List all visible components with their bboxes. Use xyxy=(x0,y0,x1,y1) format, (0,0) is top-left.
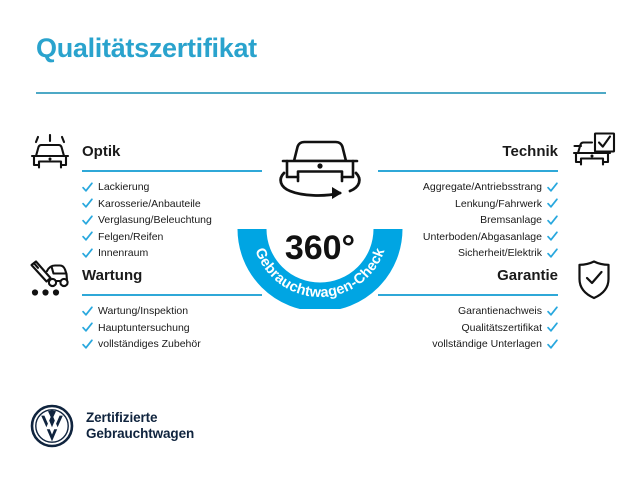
car-front-rotate-icon xyxy=(281,142,360,199)
list-item: vollständige Unterlagen xyxy=(378,336,558,353)
page-title: Qualitätszertifikat xyxy=(36,34,604,64)
list-item-label: Lackierung xyxy=(98,179,149,196)
check-icon xyxy=(547,322,558,333)
list-item-label: Innenraum xyxy=(98,245,148,262)
list-item-label: Garantienachweis xyxy=(458,303,542,320)
footer-logo-block: Zertifizierte Gebrauchtwagen xyxy=(30,404,194,448)
list-item-label: Lenkung/Fahrwerk xyxy=(455,196,542,213)
check-icon xyxy=(547,231,558,242)
check-icon xyxy=(82,248,93,259)
check-icon xyxy=(547,306,558,317)
list-item: Hauptuntersuchung xyxy=(82,320,262,337)
list-item-label: Hauptuntersuchung xyxy=(98,320,190,337)
check-icon xyxy=(547,215,558,226)
list-item-label: vollständige Unterlagen xyxy=(432,336,542,353)
list-item-label: Unterboden/Abgasanlage xyxy=(423,229,542,246)
car-checkbox-icon xyxy=(568,132,614,172)
check-icon xyxy=(82,306,93,317)
section-garantie-list: Garantienachweis Qualitätszertifikat vol… xyxy=(378,303,558,353)
badge-360-gebrauchtwagen-check: 360° Gebrauchtwagen-Check xyxy=(228,113,412,309)
list-item-label: Karosserie/Anbauteile xyxy=(98,196,201,213)
car-shine-icon xyxy=(27,134,73,174)
list-item-label: Felgen/Reifen xyxy=(98,229,163,246)
check-icon xyxy=(82,198,93,209)
section-wartung-list: Wartung/Inspektion Hauptuntersuchung vol… xyxy=(82,303,262,353)
check-icon xyxy=(82,322,93,333)
list-item: Qualitätszertifikat xyxy=(378,320,558,337)
list-item-label: Aggregate/Antriebsstrang xyxy=(423,179,542,196)
check-icon xyxy=(82,215,93,226)
list-item-label: Verglasung/Beleuchtung xyxy=(98,212,212,229)
check-icon xyxy=(82,182,93,193)
list-item-label: Bremsanlage xyxy=(480,212,542,229)
list-item-label: vollständiges Zubehör xyxy=(98,336,201,353)
check-icon xyxy=(547,339,558,350)
check-icon xyxy=(547,182,558,193)
footer-line-2: Gebrauchtwagen xyxy=(86,426,194,442)
title-block: Qualitätszertifikat xyxy=(36,34,604,64)
badge-center-label: 360° xyxy=(285,229,355,267)
list-item-label: Sicherheit/Elektrik xyxy=(458,245,542,262)
vw-logo-icon xyxy=(30,404,74,448)
certificate-page: Qualitätszertifikat Optik xyxy=(0,0,640,480)
footer-line-1: Zertifizierte xyxy=(86,410,194,426)
car-service-pen-icon xyxy=(25,259,71,299)
check-icon xyxy=(82,339,93,350)
list-item: vollständiges Zubehör xyxy=(82,336,262,353)
list-item-label: Wartung/Inspektion xyxy=(98,303,188,320)
check-icon xyxy=(547,198,558,209)
shield-check-icon xyxy=(574,259,620,299)
footer-text: Zertifizierte Gebrauchtwagen xyxy=(86,410,194,442)
check-icon xyxy=(547,248,558,259)
list-item-label: Qualitätszertifikat xyxy=(461,320,542,337)
title-divider xyxy=(36,92,606,94)
check-icon xyxy=(82,231,93,242)
